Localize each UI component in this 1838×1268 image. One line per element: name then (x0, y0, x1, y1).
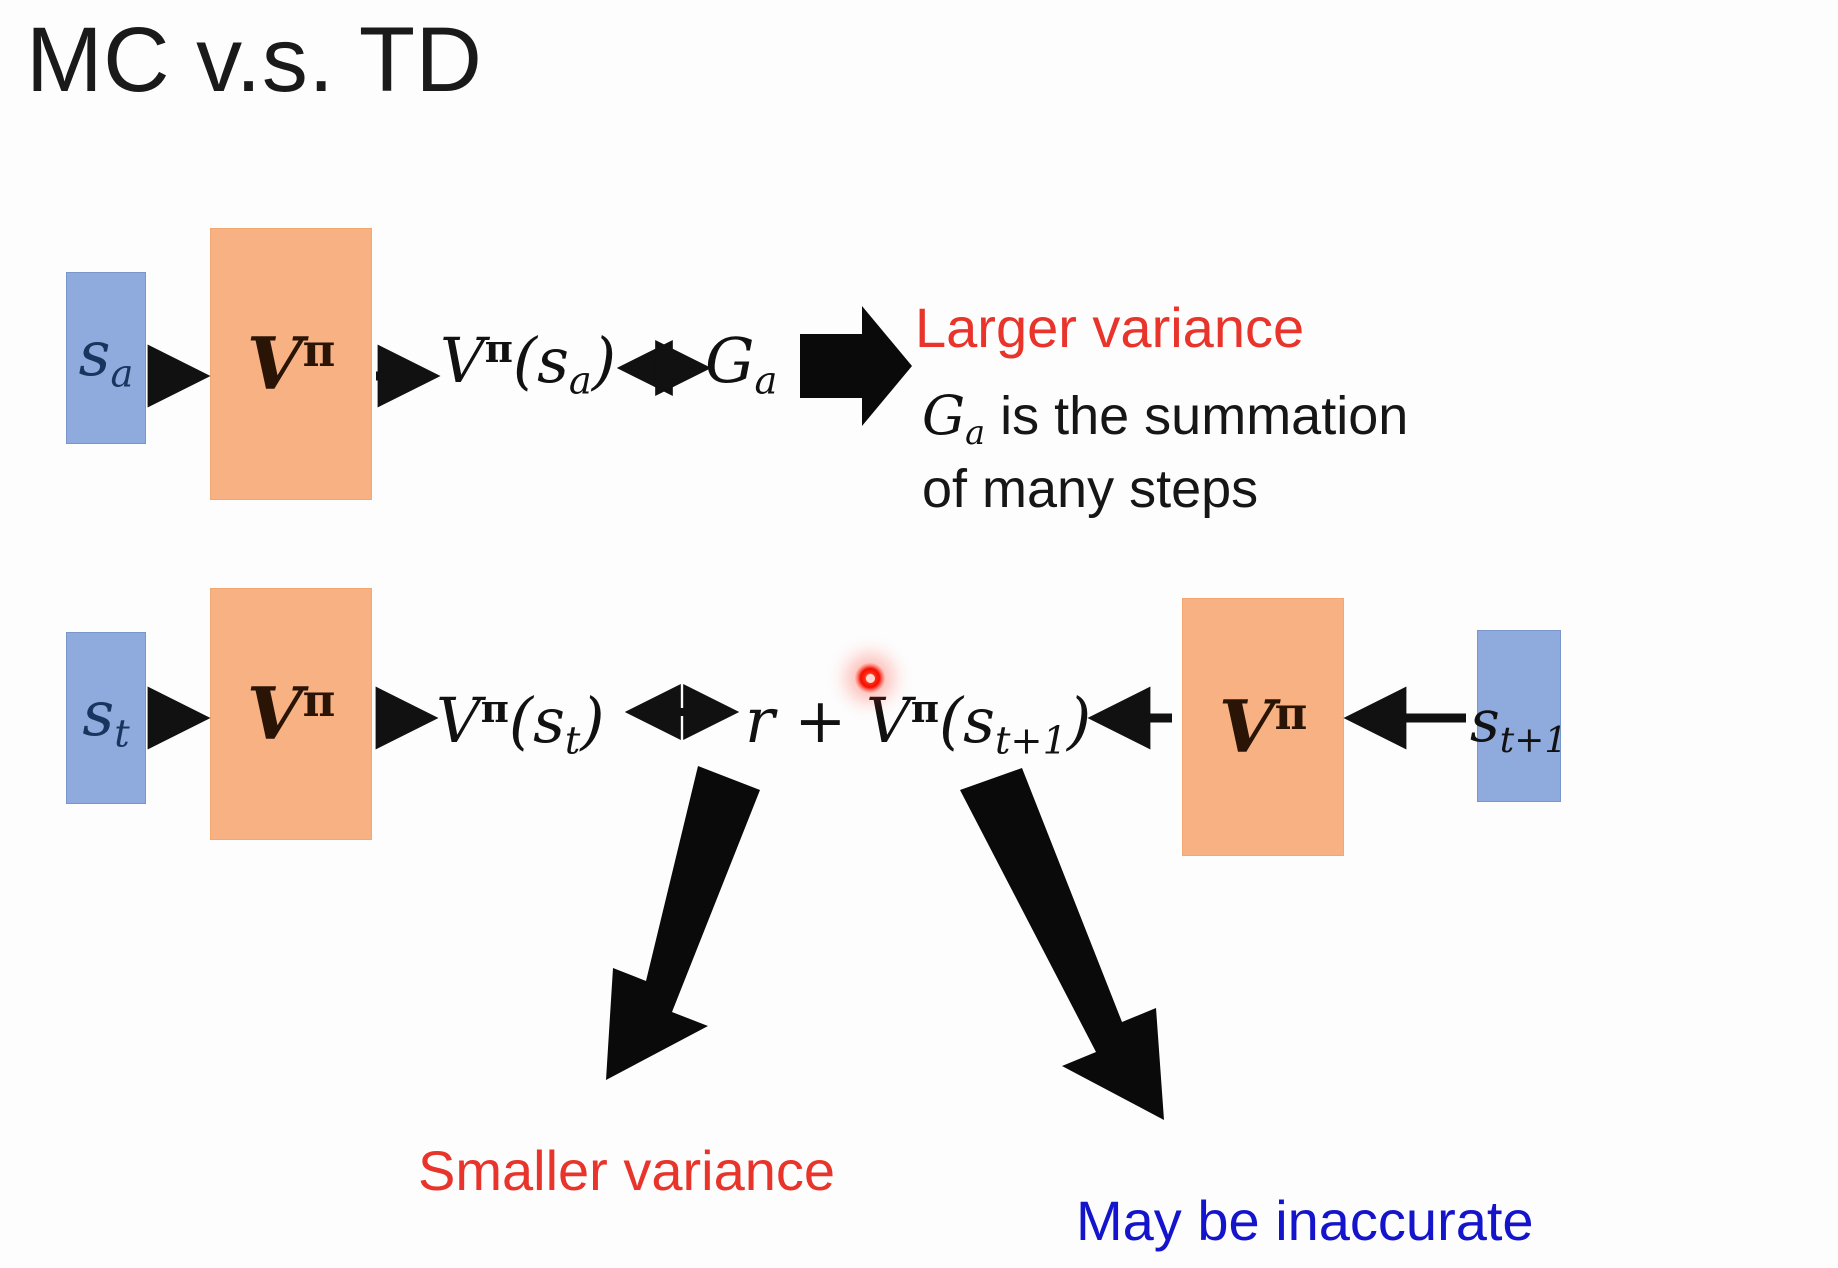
mc-note-detail-line2: of many steps (922, 458, 1258, 522)
td-model-box-left[interactable]: Vπ (210, 588, 372, 840)
mc-note-detail-line1: Ga is the summation (922, 385, 1408, 450)
mc-note-headline: Larger variance (915, 295, 1304, 361)
td-model-label-left: Vπ (247, 678, 336, 750)
mc-value-expression: Vπ(sa) (440, 330, 616, 401)
laser-pointer-dot (855, 663, 885, 693)
td-value-expression: Vπ(st) (436, 690, 605, 761)
mc-block-arrow (800, 306, 912, 426)
td-block-arrow-left-down (606, 766, 760, 1080)
td-state-box[interactable]: st (66, 632, 146, 804)
mc-state-box[interactable]: sa (66, 272, 146, 444)
td-model-box-right[interactable]: Vπ (1182, 598, 1344, 856)
td-note-smaller-variance: Smaller variance (418, 1138, 835, 1204)
slide-canvas: MC v.s. TD sa Vπ Vπ(sa) Ga Larger varian… (0, 0, 1838, 1268)
td-next-state-label: st+1 (1470, 692, 1567, 759)
mc-state-label: sa (79, 323, 134, 394)
page-title: MC v.s. TD (26, 8, 482, 113)
td-state-label: st (82, 683, 129, 754)
mc-return-symbol: Ga (705, 330, 777, 401)
td-note-inaccurate: May be inaccurate (1076, 1188, 1534, 1254)
mc-model-label: Vπ (247, 328, 336, 400)
td-block-arrow-right-down (960, 768, 1164, 1120)
td-target-expression: r + Vπ(st+1) (745, 690, 1091, 761)
mc-model-box[interactable]: Vπ (210, 228, 372, 500)
td-model-label-right: Vπ (1219, 691, 1308, 763)
